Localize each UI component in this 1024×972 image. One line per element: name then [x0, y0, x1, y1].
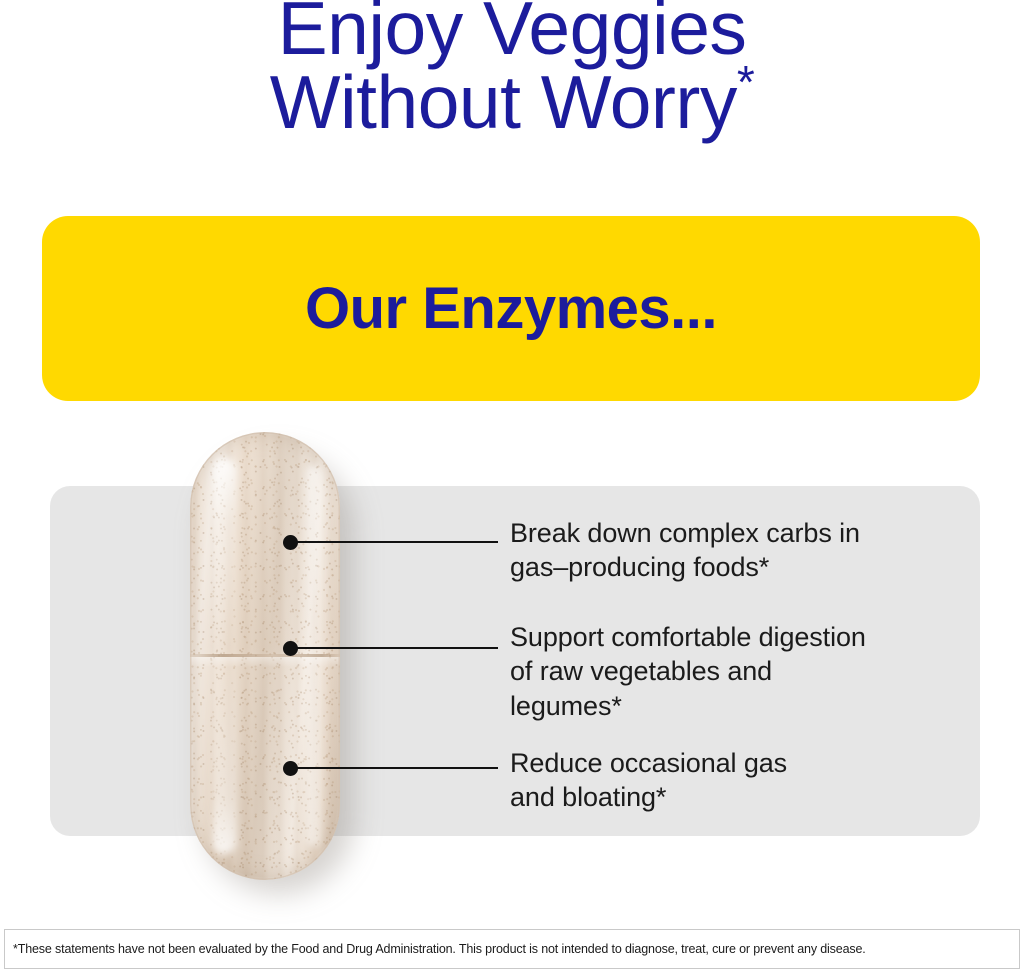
callout-line-3: [290, 767, 498, 769]
benefit-1-line-1: Break down complex carbs in: [510, 516, 950, 550]
benefit-text-3: Reduce occasional gas and bloating*: [510, 746, 940, 815]
benefit-2-line-3: legumes*: [510, 689, 970, 723]
benefit-1-line-2: gas–producing foods*: [510, 550, 950, 584]
benefit-text-2: Support comfortable digestion of raw veg…: [510, 620, 970, 723]
benefit-3-line-2: and bloating*: [510, 780, 940, 814]
benefit-text-1: Break down complex carbs in gas–producin…: [510, 516, 950, 585]
disclaimer-text: *These statements have not been evaluate…: [13, 942, 866, 957]
benefit-2-line-1: Support comfortable digestion: [510, 620, 970, 654]
benefit-3-line-1: Reduce occasional gas: [510, 746, 940, 780]
product-benefit-infographic: Enjoy Veggies Without Worry* Our Enzymes…: [0, 0, 1024, 972]
callout-line-1: [290, 541, 498, 543]
callout-line-2: [290, 647, 498, 649]
capsule-body: [190, 432, 340, 880]
banner-title: Our Enzymes...: [305, 280, 717, 338]
headline-line-2: Without Worry: [270, 60, 737, 144]
headline-asterisk: *: [737, 56, 754, 108]
capsule-photo: [190, 432, 342, 884]
disclaimer-box: *These statements have not been evaluate…: [4, 929, 1020, 969]
headline-line-1: Enjoy Veggies: [0, 0, 1024, 66]
headline-line-2-wrap: Without Worry*: [0, 66, 1024, 140]
capsule-rim: [190, 432, 340, 880]
page-headline: Enjoy Veggies Without Worry*: [0, 0, 1024, 139]
enzymes-banner: Our Enzymes...: [42, 216, 980, 401]
benefit-2-line-2: of raw vegetables and: [510, 654, 970, 688]
